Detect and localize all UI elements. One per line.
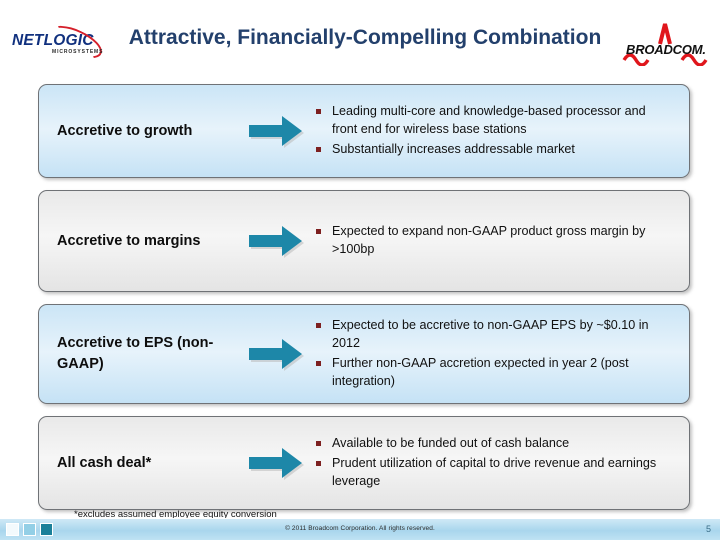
bullet-square-icon <box>316 361 321 366</box>
bullet-square-icon <box>316 109 321 114</box>
right-arrow-icon <box>247 443 305 483</box>
bullet-text: Substantially increases addressable mark… <box>332 142 575 156</box>
bullet-text: Prudent utilization of capital to drive … <box>332 456 656 488</box>
list-item: Expected to be accretive to non-GAAP EPS… <box>315 317 667 353</box>
list-item: Prudent utilization of capital to drive … <box>315 455 667 491</box>
arrow-cell <box>239 334 313 374</box>
row-label: Accretive to margins <box>39 231 239 252</box>
row-all-cash-deal[interactable]: All cash deal* Available to be funded ou… <box>38 416 690 510</box>
bullet-square-icon <box>316 323 321 328</box>
list-item: Available to be funded out of cash balan… <box>315 435 667 453</box>
bullet-text: Expected to expand non-GAAP product gros… <box>332 224 645 256</box>
row-label: Accretive to growth <box>39 121 239 142</box>
netlogic-wordmark: NETLOGIC <box>12 32 110 50</box>
bullet-square-icon <box>316 441 321 446</box>
content-rows: Accretive to growth Leading multi-core a… <box>38 84 690 498</box>
bullet-text: Expected to be accretive to non-GAAP EPS… <box>332 318 649 350</box>
row-accretive-to-eps[interactable]: Accretive to EPS (non-GAAP) Expected to … <box>38 304 690 404</box>
row-accretive-to-margins[interactable]: Accretive to margins Expected to expand … <box>38 190 690 292</box>
row-accretive-to-growth[interactable]: Accretive to growth Leading multi-core a… <box>38 84 690 178</box>
bullet-text: Leading multi-core and knowledge-based p… <box>332 104 646 136</box>
netlogic-logo: NETLOGIC MICROSYSTEMS <box>12 30 110 62</box>
row-bullets: Leading multi-core and knowledge-based p… <box>313 103 689 159</box>
list-item: Leading multi-core and knowledge-based p… <box>315 103 667 139</box>
bullet-square-icon <box>316 229 321 234</box>
netlogic-tagline: MICROSYSTEMS <box>52 49 103 55</box>
right-arrow-icon <box>247 334 305 374</box>
broadcom-logo: BROADCOM. <box>620 22 712 66</box>
right-arrow-icon <box>247 221 305 261</box>
slide-number: 5 <box>706 524 711 534</box>
row-bullets: Available to be funded out of cash balan… <box>313 435 689 491</box>
row-label: Accretive to EPS (non-GAAP) <box>39 333 239 374</box>
bullet-text: Further non-GAAP accretion expected in y… <box>332 356 629 388</box>
row-label: All cash deal* <box>39 453 239 474</box>
broadcom-wordmark: BROADCOM. <box>626 42 706 57</box>
slide: NETLOGIC MICROSYSTEMS Attractive, Financ… <box>0 0 720 540</box>
slide-footer: © 2011 Broadcom Corporation. All rights … <box>0 518 720 540</box>
list-item: Substantially increases addressable mark… <box>315 141 667 159</box>
arrow-cell <box>239 443 313 483</box>
row-bullets: Expected to be accretive to non-GAAP EPS… <box>313 317 689 391</box>
arrow-cell <box>239 221 313 261</box>
list-item: Expected to expand non-GAAP product gros… <box>315 223 667 259</box>
bullet-square-icon <box>316 461 321 466</box>
bullet-square-icon <box>316 147 321 152</box>
page-title: Attractive, Financially-Compelling Combi… <box>120 26 610 50</box>
list-item: Further non-GAAP accretion expected in y… <box>315 355 667 391</box>
slide-header: NETLOGIC MICROSYSTEMS Attractive, Financ… <box>0 0 720 78</box>
bullet-text: Available to be funded out of cash balan… <box>332 436 569 450</box>
copyright-text: © 2011 Broadcom Corporation. All rights … <box>0 525 720 532</box>
right-arrow-icon <box>247 111 305 151</box>
arrow-cell <box>239 111 313 151</box>
row-bullets: Expected to expand non-GAAP product gros… <box>313 223 689 259</box>
